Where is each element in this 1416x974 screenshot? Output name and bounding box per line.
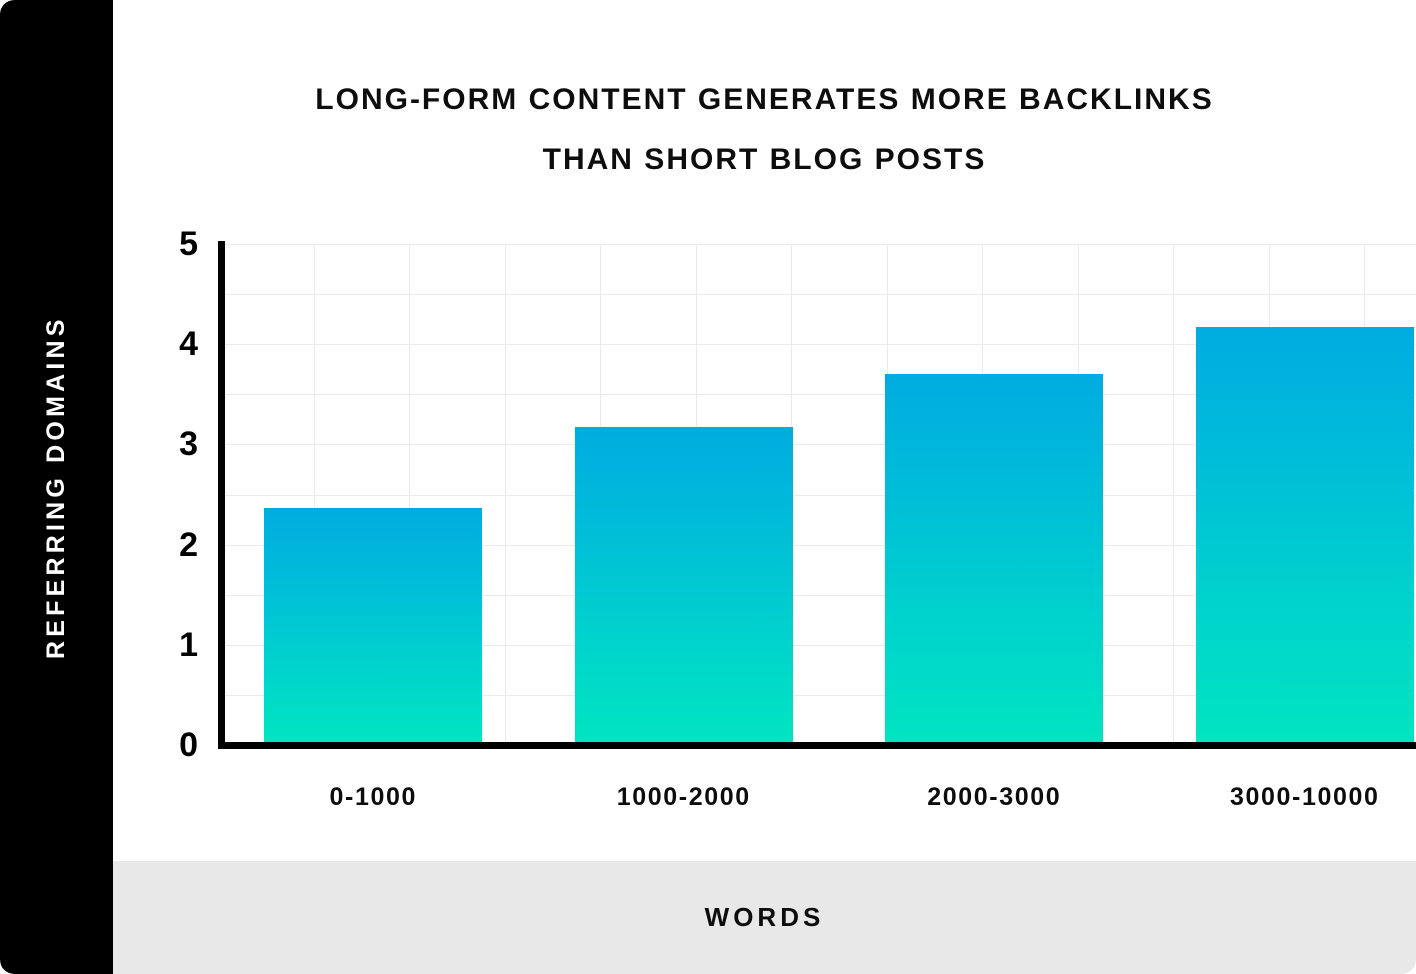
- bar-3000-10000[interactable]: [1196, 327, 1414, 745]
- plot-wrapper: 012345 0-10001000-20002000-30003000-1000…: [113, 0, 1416, 974]
- gridline-vertical: [505, 244, 506, 745]
- y-axis-title-rail: REFERRING DOMAINS: [0, 0, 113, 974]
- y-tick-label-4: 4: [138, 324, 198, 364]
- gridline-horizontal: [218, 244, 1416, 245]
- gridline-vertical: [1173, 244, 1174, 745]
- chart-panel: LONG-FORM CONTENT GENERATES MORE BACKLIN…: [113, 0, 1416, 974]
- gridline-horizontal: [218, 294, 1416, 295]
- x-axis-title: WORDS: [705, 902, 825, 933]
- y-axis-title: REFERRING DOMAINS: [0, 0, 113, 974]
- plot-area: [218, 244, 1416, 745]
- y-tick-label-2: 2: [138, 525, 198, 565]
- x-tick-label-3000-10000: 3000-10000: [1150, 783, 1416, 812]
- x-tick-label-1000-2000: 1000-2000: [529, 783, 840, 812]
- y-tick-label-3: 3: [138, 424, 198, 464]
- x-axis-line: [218, 742, 1416, 749]
- bar-2000-3000[interactable]: [885, 374, 1103, 745]
- x-tick-label-0-1000: 0-1000: [218, 783, 529, 812]
- y-tick-label-5: 5: [138, 224, 198, 264]
- bar-0-1000[interactable]: [264, 508, 482, 745]
- x-tick-label-2000-3000: 2000-3000: [839, 783, 1150, 812]
- y-tick-label-0: 0: [138, 725, 198, 765]
- x-axis-title-band: WORDS: [113, 861, 1416, 974]
- bar-1000-2000[interactable]: [575, 427, 793, 745]
- y-axis-line: [218, 241, 225, 748]
- chart-card: REFERRING DOMAINS LONG-FORM CONTENT GENE…: [0, 0, 1416, 974]
- y-tick-label-1: 1: [138, 625, 198, 665]
